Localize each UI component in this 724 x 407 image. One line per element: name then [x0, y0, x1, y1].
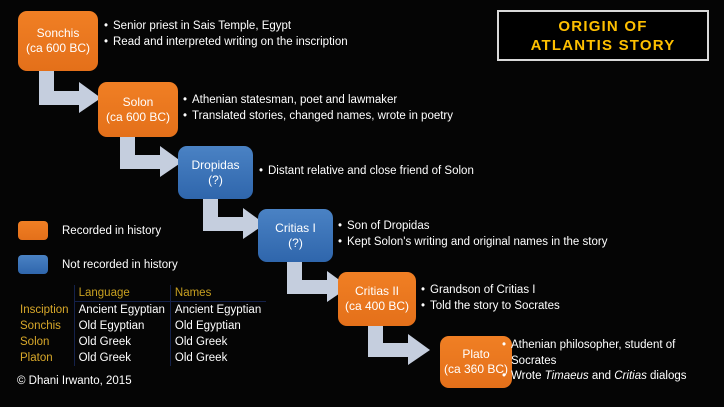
node-dropidas-name: Dropidas: [191, 158, 239, 173]
bullet-marker: •: [502, 369, 511, 385]
bullet-marker: •: [502, 338, 511, 354]
plato-italic-timaeus: Timaeus: [545, 370, 589, 382]
table-cell-language: Old Greek: [74, 334, 170, 350]
node-critias-1-date: (?): [288, 236, 303, 251]
bullet-marker: •: [183, 109, 192, 125]
node-critias-2-name: Critias II: [355, 284, 399, 299]
bullet-marker: •: [104, 35, 113, 51]
bullet-marker: •: [421, 283, 430, 299]
bullet-text: Athenian philosopher, student of Socrate…: [511, 338, 714, 369]
bullet-marker: •: [338, 219, 347, 235]
title-line-1: ORIGIN OF: [558, 17, 647, 36]
bullet-text: Told the story to Socrates: [430, 299, 721, 315]
node-sonchis-date: (ca 600 BC): [26, 41, 90, 56]
table-cell-language: Old Greek: [74, 350, 170, 366]
plato-suffix: dialogs: [647, 370, 687, 382]
table-corner-cell: [16, 285, 74, 302]
bullet-text: Grandson of Critias I: [430, 283, 721, 299]
bullet-text: Read and interpreted writing on the insc…: [113, 35, 504, 51]
language-names-table: Language Names Insciption Ancient Egypti…: [16, 285, 266, 366]
plato-middle: and: [589, 370, 615, 382]
legend-item-recorded: Recorded in history: [18, 221, 161, 240]
table-row-label: Sonchis: [16, 318, 74, 334]
table-row-label: Insciption: [16, 302, 74, 319]
legend-item-not-recorded: Not recorded in history: [18, 255, 178, 274]
node-plato-date: (ca 360 BC): [444, 362, 508, 377]
node-critias-2-date: (ca 400 BC): [345, 299, 409, 314]
bullets-solon: •Athenian statesman, poet and lawmaker •…: [183, 93, 603, 124]
legend-label-recorded: Recorded in history: [62, 225, 161, 237]
title-line-2: ATLANTIS STORY: [531, 36, 676, 55]
bullet-text: Son of Dropidas: [347, 219, 724, 235]
table-cell-language: Ancient Egyptian: [74, 302, 170, 319]
copyright-credit: © Dhani Irwanto, 2015: [17, 375, 132, 387]
table-row: Insciption Ancient Egyptian Ancient Egyp…: [16, 302, 266, 319]
node-sonchis[interactable]: Sonchis (ca 600 BC): [18, 11, 98, 71]
plato-italic-critias: Critias: [614, 370, 647, 382]
bullets-sonchis: •Senior priest in Sais Temple, Egypt •Re…: [104, 19, 504, 50]
table-cell-names: Ancient Egyptian: [170, 302, 266, 319]
table-row: Sonchis Old Egyptian Old Egyptian: [16, 318, 266, 334]
legend-swatch-not-recorded-icon: [18, 255, 48, 274]
table-cell-names: Old Greek: [170, 350, 266, 366]
legend-swatch-recorded-icon: [18, 221, 48, 240]
bullets-plato: •Athenian philosopher, student of Socrat…: [502, 338, 714, 385]
table-row: Platon Old Greek Old Greek: [16, 350, 266, 366]
node-sonchis-name: Sonchis: [37, 26, 80, 41]
table-cell-language: Old Egyptian: [74, 318, 170, 334]
bullet-text: Translated stories, changed names, wrote…: [192, 109, 603, 125]
node-critias-2[interactable]: Critias II (ca 400 BC): [338, 272, 416, 326]
node-critias-1-name: Critias I: [275, 221, 316, 236]
bullets-critias-1: •Son of Dropidas •Kept Solon's writing a…: [338, 219, 724, 250]
table-header-language: Language: [74, 285, 170, 302]
title-plate: ORIGIN OF ATLANTIS STORY: [497, 10, 709, 61]
bullet-text: Senior priest in Sais Temple, Egypt: [113, 19, 504, 35]
table-header-names: Names: [170, 285, 266, 302]
legend-label-not-recorded: Not recorded in history: [62, 259, 178, 271]
node-solon-date: (ca 600 BC): [106, 110, 170, 125]
bullets-dropidas: •Distant relative and close friend of So…: [259, 164, 659, 180]
bullet-marker: •: [259, 164, 268, 180]
table-cell-names: Old Egyptian: [170, 318, 266, 334]
bullet-text: Distant relative and close friend of Sol…: [268, 164, 659, 180]
node-plato-name: Plato: [462, 347, 489, 362]
arrow-solon-to-dropidas: [120, 130, 184, 178]
bullet-text-rich: Wrote Timaeus and Critias dialogs: [511, 369, 714, 385]
bullets-critias-2: •Grandson of Critias I •Told the story t…: [421, 283, 721, 314]
slide-canvas: ORIGIN OF ATLANTIS STORY Sonchis (ca 600…: [0, 0, 724, 407]
node-dropidas-date: (?): [208, 173, 223, 188]
table-row-label: Platon: [16, 350, 74, 366]
node-dropidas[interactable]: Dropidas (?): [178, 146, 253, 199]
bullet-marker: •: [338, 235, 347, 251]
bullet-marker: •: [421, 299, 430, 315]
plato-prefix: Wrote: [511, 370, 545, 382]
table-row-label: Solon: [16, 334, 74, 350]
node-solon[interactable]: Solon (ca 600 BC): [98, 82, 178, 137]
bullet-text: Kept Solon's writing and original names …: [347, 235, 724, 251]
table-cell-names: Old Greek: [170, 334, 266, 350]
node-solon-name: Solon: [123, 95, 154, 110]
table-header-row: Language Names: [16, 285, 266, 302]
table-row: Solon Old Greek Old Greek: [16, 334, 266, 350]
bullet-marker: •: [183, 93, 192, 109]
arrow-sonchis-to-solon: [39, 66, 103, 114]
bullet-text: Athenian statesman, poet and lawmaker: [192, 93, 603, 109]
node-critias-1[interactable]: Critias I (?): [258, 209, 333, 262]
bullet-marker: •: [104, 19, 113, 35]
